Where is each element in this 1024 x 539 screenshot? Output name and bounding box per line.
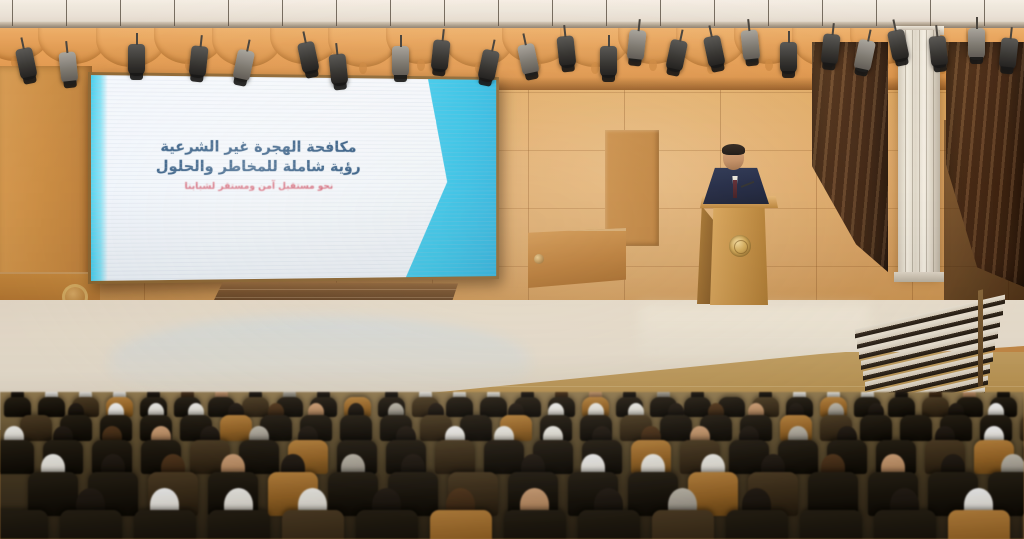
stage-spotlight-icon: [392, 46, 409, 78]
wall-niche: [605, 130, 659, 246]
audience-seat: [660, 415, 692, 441]
stage-spotlight-icon: [328, 53, 348, 87]
audience-seat: [948, 510, 1010, 539]
audience-seat: [20, 415, 52, 441]
audience-seat: [208, 510, 270, 539]
audience-seating-area: [0, 392, 1024, 539]
slide-text-block: مكافحة الهجرة غير الشرعية رؤية شاملة للم…: [129, 137, 387, 192]
audience-seat: [504, 510, 566, 539]
truss-support-wire: [174, 0, 175, 26]
truss-support-wire: [120, 0, 121, 26]
audience-seat: [356, 510, 418, 539]
column-base: [894, 272, 944, 282]
audience-seat: [874, 510, 936, 539]
audience-seat: [0, 510, 48, 539]
audience-seat: [800, 510, 862, 539]
truss-support-wire: [714, 0, 715, 26]
column-flute: [926, 30, 927, 280]
audience-seat: [239, 440, 279, 474]
screen-edge-stripe: [91, 75, 108, 281]
audience-seat: [652, 510, 714, 539]
podium-emblem-icon: [729, 235, 751, 257]
truss-support-wire: [930, 0, 931, 26]
audience-seat: [242, 397, 269, 417]
truss-support-wire: [768, 0, 769, 26]
projection-screen-frame: مكافحة الهجرة غير الشرعية رؤية شاملة للم…: [88, 72, 499, 284]
truss-support-wire: [660, 0, 661, 26]
truss-support-wire: [822, 0, 823, 26]
truss-support-wire: [282, 0, 283, 26]
truss-support-wire: [228, 0, 229, 26]
riser-edge: [213, 297, 458, 298]
slide-heading-line-2: رؤية شاملة للمخاطر والحلول: [129, 157, 387, 176]
truss-support-wire: [876, 0, 877, 26]
audience-seat: [430, 510, 492, 539]
audience-seat: [900, 415, 932, 441]
speaker-hair: [722, 144, 745, 155]
stage-spotlight-icon: [740, 29, 760, 63]
conference-hall-photo: مكافحة الهجرة غير الشرعية رؤية شاملة للم…: [0, 0, 1024, 539]
audience-seat: [860, 415, 892, 441]
speaker-tie: [733, 180, 737, 198]
stair-railing: [978, 289, 983, 386]
audience-seat: [435, 440, 475, 474]
audience-seat: [460, 415, 492, 441]
stage-spotlight-icon: [128, 44, 145, 76]
truss-support-wire: [552, 0, 553, 26]
audience-seat: [1020, 415, 1024, 441]
truss-support-wire: [336, 0, 337, 26]
console-knob-icon: [534, 254, 544, 264]
audience-seat: [922, 397, 949, 417]
audience-seat: [340, 415, 372, 441]
stage-spotlight-icon: [600, 46, 617, 78]
floor-reflection: [110, 316, 530, 402]
stage-spotlight-icon: [968, 28, 985, 60]
truss-support-wire: [498, 0, 499, 26]
slide-subtitle: نحو مستقبل آمن ومستقر لشبابنا: [129, 181, 387, 192]
stage-spotlight-icon: [928, 35, 948, 69]
audience-seat: [578, 510, 640, 539]
projection-screen: مكافحة الهجرة غير الشرعية رؤية شاملة للم…: [91, 75, 496, 281]
column-flute: [912, 30, 913, 280]
audience-seat: [726, 510, 788, 539]
truss-support-wire: [390, 0, 391, 26]
audience-seat: [0, 440, 34, 474]
audience-seat: [282, 510, 344, 539]
truss-support-wire: [66, 0, 67, 26]
audience-seat: [484, 440, 524, 474]
stage-spotlight-icon: [58, 51, 78, 85]
truss-support-wire: [444, 0, 445, 26]
riser-edge: [213, 289, 458, 290]
stage-spotlight-icon: [780, 42, 797, 74]
stage-spotlight-icon: [556, 35, 576, 69]
truss-support-wire: [984, 0, 985, 26]
audience-seat: [134, 510, 196, 539]
audience-seat: [60, 510, 122, 539]
truss-support-wire: [12, 0, 13, 26]
truss-support-wire: [606, 0, 607, 26]
audience-seat: [220, 415, 252, 441]
column-flute: [919, 30, 920, 280]
screen-wave-cyan: [375, 78, 496, 277]
slide-heading-line-1: مكافحة الهجرة غير الشرعية: [129, 137, 387, 157]
column-flute: [905, 30, 906, 280]
